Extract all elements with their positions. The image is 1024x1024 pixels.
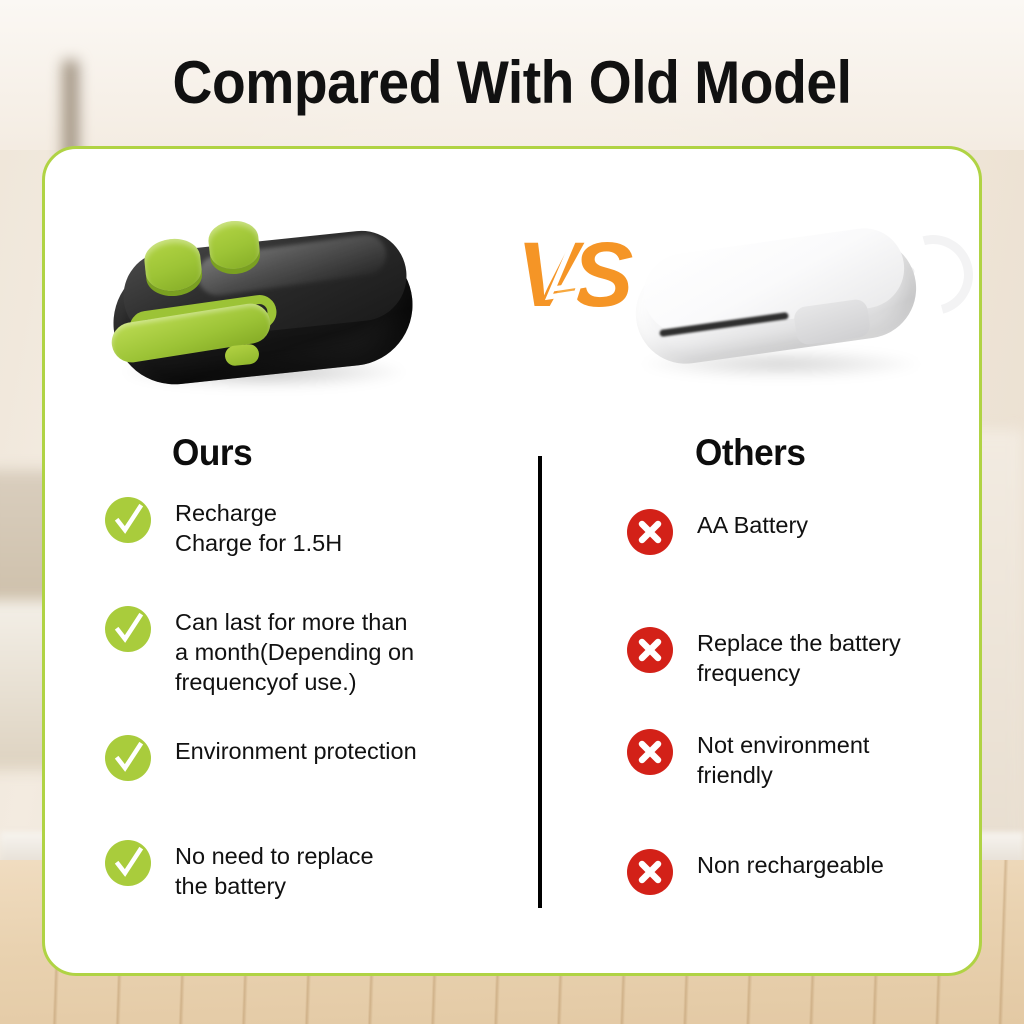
- feature-text-ours-4: No need to replace the battery: [175, 840, 374, 901]
- feature-row-others-1: AA Battery: [627, 509, 808, 555]
- column-heading-others: Others: [695, 432, 980, 474]
- feature-row-ours-1: Recharge Charge for 1.5H: [105, 497, 342, 558]
- product-row: VS: [45, 167, 979, 437]
- feature-row-ours-3: Environment protection: [105, 735, 417, 781]
- cross-icon: [627, 729, 673, 775]
- column-ours: Ours: [172, 432, 522, 474]
- cross-icon: [627, 509, 673, 555]
- lightning-bolt-overlay-icon: [523, 185, 633, 405]
- feature-text-ours-2: Can last for more than a month(Depending…: [175, 606, 414, 697]
- check-icon: [105, 735, 151, 781]
- feature-text-ours-3: Environment protection: [175, 735, 417, 766]
- column-heading-ours: Ours: [172, 432, 505, 474]
- column-divider: [538, 456, 542, 908]
- feature-text-others-1: AA Battery: [697, 509, 808, 540]
- feature-row-ours-2: Can last for more than a month(Depending…: [105, 606, 414, 697]
- column-others: Others: [695, 432, 995, 474]
- feature-row-others-3: Not environment friendly: [627, 729, 869, 790]
- cross-icon: [627, 627, 673, 673]
- check-icon: [105, 497, 151, 543]
- check-icon: [105, 840, 151, 886]
- page-title: Compared With Old Model: [41, 48, 983, 117]
- product-image-others: [625, 229, 975, 399]
- check-icon: [105, 606, 151, 652]
- comparison-infographic: Compared With Old Model: [0, 0, 1024, 1024]
- cross-icon: [627, 849, 673, 895]
- feature-row-others-4: Non rechargeable: [627, 849, 884, 895]
- feature-text-others-4: Non rechargeable: [697, 849, 884, 880]
- product-image-ours: [105, 217, 425, 402]
- feature-row-ours-4: No need to replace the battery: [105, 840, 374, 901]
- feature-row-others-2: Replace the battery frequency: [627, 627, 901, 688]
- feature-text-ours-1: Recharge Charge for 1.5H: [175, 497, 342, 558]
- feature-text-others-3: Not environment friendly: [697, 729, 869, 790]
- feature-text-others-2: Replace the battery frequency: [697, 627, 901, 688]
